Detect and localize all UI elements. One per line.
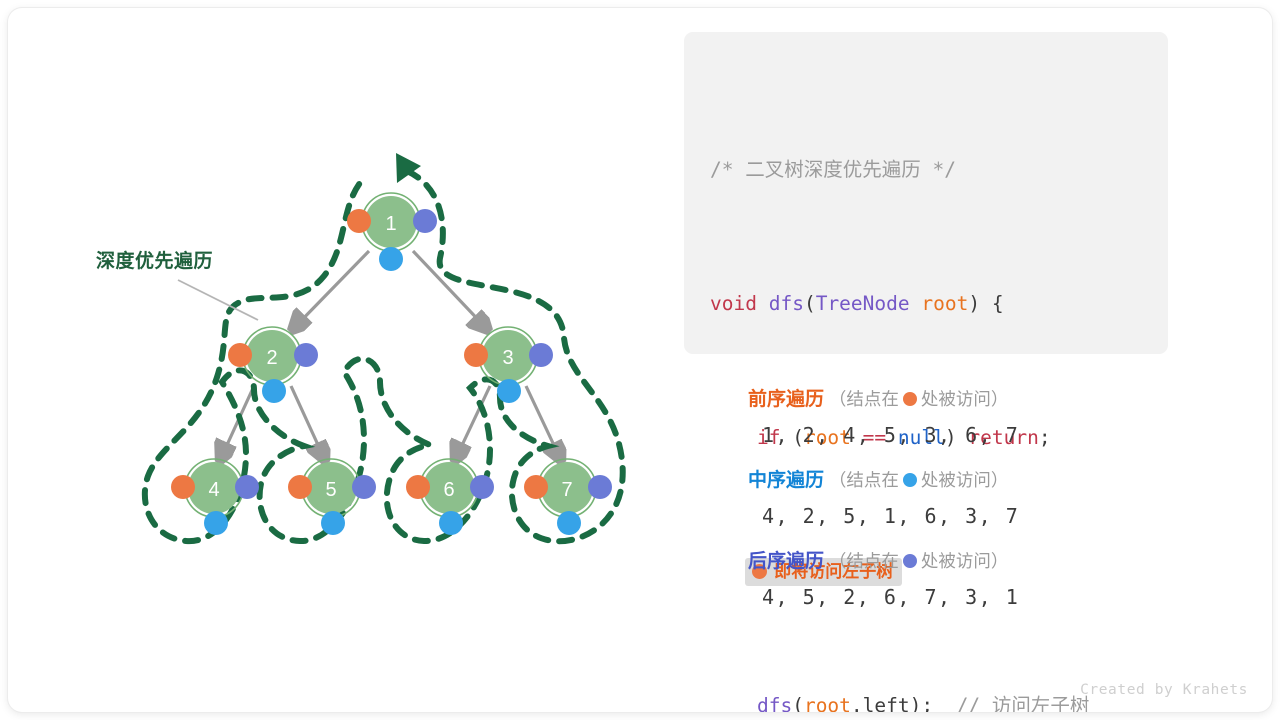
tree-node-label: 2 xyxy=(266,347,277,369)
order-heading: 前序遍历 （结点在处被访问） xyxy=(748,386,1178,413)
tree-nodes: 1 2 3 xyxy=(171,193,612,535)
tree-node-2[interactable]: 2 xyxy=(228,327,318,403)
pre-order-dot xyxy=(524,475,548,499)
in-order-dot xyxy=(903,473,917,487)
edge-1-3 xyxy=(413,251,486,328)
pre-order-dot xyxy=(347,209,371,233)
code-line-comment: /* 二叉树深度优先遍历 */ xyxy=(710,153,1158,187)
figure-frame: 1 2 3 xyxy=(8,8,1272,712)
in-order-dot xyxy=(379,247,403,271)
in-order-dot xyxy=(497,379,521,403)
pre-order-dot xyxy=(406,475,430,499)
callout-line xyxy=(178,280,258,320)
order-note-left: （结点在 xyxy=(829,470,899,490)
dfs-label: 深度优先遍历 xyxy=(96,246,213,273)
order-name: 前序遍历 xyxy=(748,389,824,410)
in-order-dot xyxy=(439,511,463,535)
order-block-inorder: 中序遍历 （结点在处被访问） 4, 2, 5, 1, 6, 3, 7 xyxy=(748,467,1178,532)
order-name: 后序遍历 xyxy=(748,551,824,572)
order-note-right: 处被访问） xyxy=(921,389,1009,409)
tree-node-label: 5 xyxy=(325,479,336,501)
tree-node-7[interactable]: 7 xyxy=(524,459,612,535)
order-note-right: 处被访问） xyxy=(921,551,1009,571)
pre-order-dot xyxy=(171,475,195,499)
order-note-left: （结点在 xyxy=(829,389,899,409)
tree-node-label: 1 xyxy=(385,213,396,235)
order-sequence: 4, 5, 2, 6, 7, 3, 1 xyxy=(762,581,1178,613)
pre-order-dot xyxy=(228,343,252,367)
code-panel: /* 二叉树深度优先遍历 */ void dfs(TreeNode root) … xyxy=(684,32,1168,354)
in-order-dot xyxy=(262,379,286,403)
tree-node-label: 3 xyxy=(502,347,513,369)
credit-text: Created by Krahets xyxy=(1080,682,1248,698)
post-order-dot xyxy=(352,475,376,499)
tree-node-label: 7 xyxy=(561,479,572,501)
post-order-dot xyxy=(529,343,553,367)
pre-order-dot xyxy=(464,343,488,367)
pre-order-dot xyxy=(903,392,917,406)
post-order-dot xyxy=(588,475,612,499)
tree-node-label: 4 xyxy=(208,479,219,501)
order-block-postorder: 后序遍历 （结点在处被访问） 4, 5, 2, 6, 7, 3, 1 xyxy=(748,548,1178,613)
in-order-dot xyxy=(204,511,228,535)
code-line-signature: void dfs(TreeNode root) { xyxy=(710,287,1158,321)
post-order-dot xyxy=(294,343,318,367)
edge-3-6 xyxy=(456,386,490,458)
order-sequence: 4, 2, 5, 1, 6, 3, 7 xyxy=(762,500,1178,532)
traversal-orders: 前序遍历 （结点在处被访问） 1, 2, 4, 5, 3, 6, 7 中序遍历 … xyxy=(748,386,1178,629)
tree-node-3[interactable]: 3 xyxy=(464,327,553,403)
pre-order-dot xyxy=(288,475,312,499)
order-name: 中序遍历 xyxy=(748,470,824,491)
post-order-dot xyxy=(903,554,917,568)
in-order-dot xyxy=(321,511,345,535)
post-order-dot xyxy=(413,209,437,233)
tree-diagram: 1 2 3 xyxy=(8,8,678,712)
order-note-right: 处被访问） xyxy=(921,470,1009,490)
order-block-preorder: 前序遍历 （结点在处被访问） 1, 2, 4, 5, 3, 6, 7 xyxy=(748,386,1178,451)
order-note-left: （结点在 xyxy=(829,551,899,571)
edge-2-4 xyxy=(221,386,254,458)
order-heading: 后序遍历 （结点在处被访问） xyxy=(748,548,1178,575)
tree-node-label: 6 xyxy=(443,479,454,501)
order-heading: 中序遍历 （结点在处被访问） xyxy=(748,467,1178,494)
tree-node-6[interactable]: 6 xyxy=(406,459,494,535)
in-order-dot xyxy=(557,511,581,535)
post-order-dot xyxy=(235,475,259,499)
tree-svg: 1 2 3 xyxy=(8,8,678,712)
order-sequence: 1, 2, 4, 5, 3, 6, 7 xyxy=(762,419,1178,451)
post-order-dot xyxy=(470,475,494,499)
